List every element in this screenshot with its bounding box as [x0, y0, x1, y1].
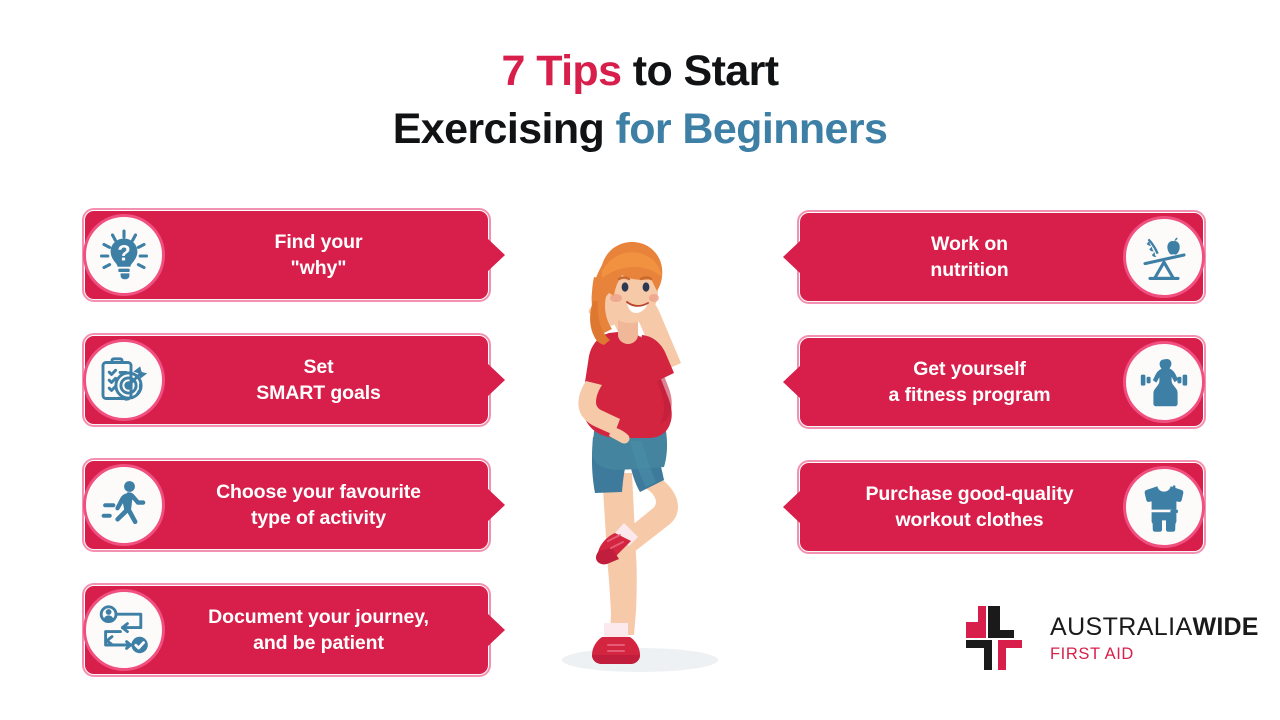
woman-stretching-illustration	[490, 205, 790, 685]
australia-wide-cross-mark	[958, 602, 1030, 674]
logo-wide: WIDE	[1193, 613, 1259, 641]
infographic-canvas: 7 Tips to Start Exercising for Beginners	[0, 0, 1280, 720]
logo-line-1: AUSTRALIAWIDE	[1050, 613, 1259, 642]
dumbbell-torso-icon	[1123, 341, 1205, 423]
title-line-1: 7 Tips to Start	[0, 42, 1280, 100]
page-title: 7 Tips to Start Exercising for Beginners	[0, 42, 1280, 158]
lightbulb-question-icon: ?	[83, 214, 165, 296]
title-highlight-beginners: for Beginners	[604, 105, 887, 153]
workout-clothes-icon	[1123, 466, 1205, 548]
title-highlight-tips: 7 Tips	[502, 47, 622, 95]
clipboard-target-icon	[83, 339, 165, 421]
tip-card-work-on-nutrition[interactable]: Work on nutrition	[800, 213, 1203, 301]
australia-wide-first-aid-logo: AUSTRALIAWIDE FIRST AID	[958, 600, 1250, 676]
tip-card-fitness-program[interactable]: Get yourself a fitness program	[800, 338, 1203, 426]
balance-scale-nutrition-icon	[1123, 216, 1205, 298]
logo-wordmark: AUSTRALIAWIDE FIRST AID	[1050, 613, 1259, 664]
title-line-1-rest: to Start	[621, 47, 778, 95]
tip-card-find-your-why[interactable]: ? Find your "why"	[85, 211, 488, 299]
tip-card-choose-activity[interactable]: Choose your favourite type of activity	[85, 461, 488, 549]
title-line-2: Exercising for Beginners	[0, 100, 1280, 158]
running-person-icon	[83, 464, 165, 546]
tip-card-workout-clothes[interactable]: Purchase good-quality workout clothes	[800, 463, 1203, 551]
svg-text:?: ?	[117, 241, 130, 266]
process-flow-check-icon	[83, 589, 165, 671]
logo-line-2: FIRST AID	[1050, 644, 1259, 664]
tip-card-set-smart-goals[interactable]: Set SMART goals	[85, 336, 488, 424]
tip-card-document-journey[interactable]: Document your journey, and be patient	[85, 586, 488, 674]
logo-australia: AUSTRALIA	[1050, 613, 1193, 641]
title-word-exercising: Exercising	[393, 105, 605, 153]
